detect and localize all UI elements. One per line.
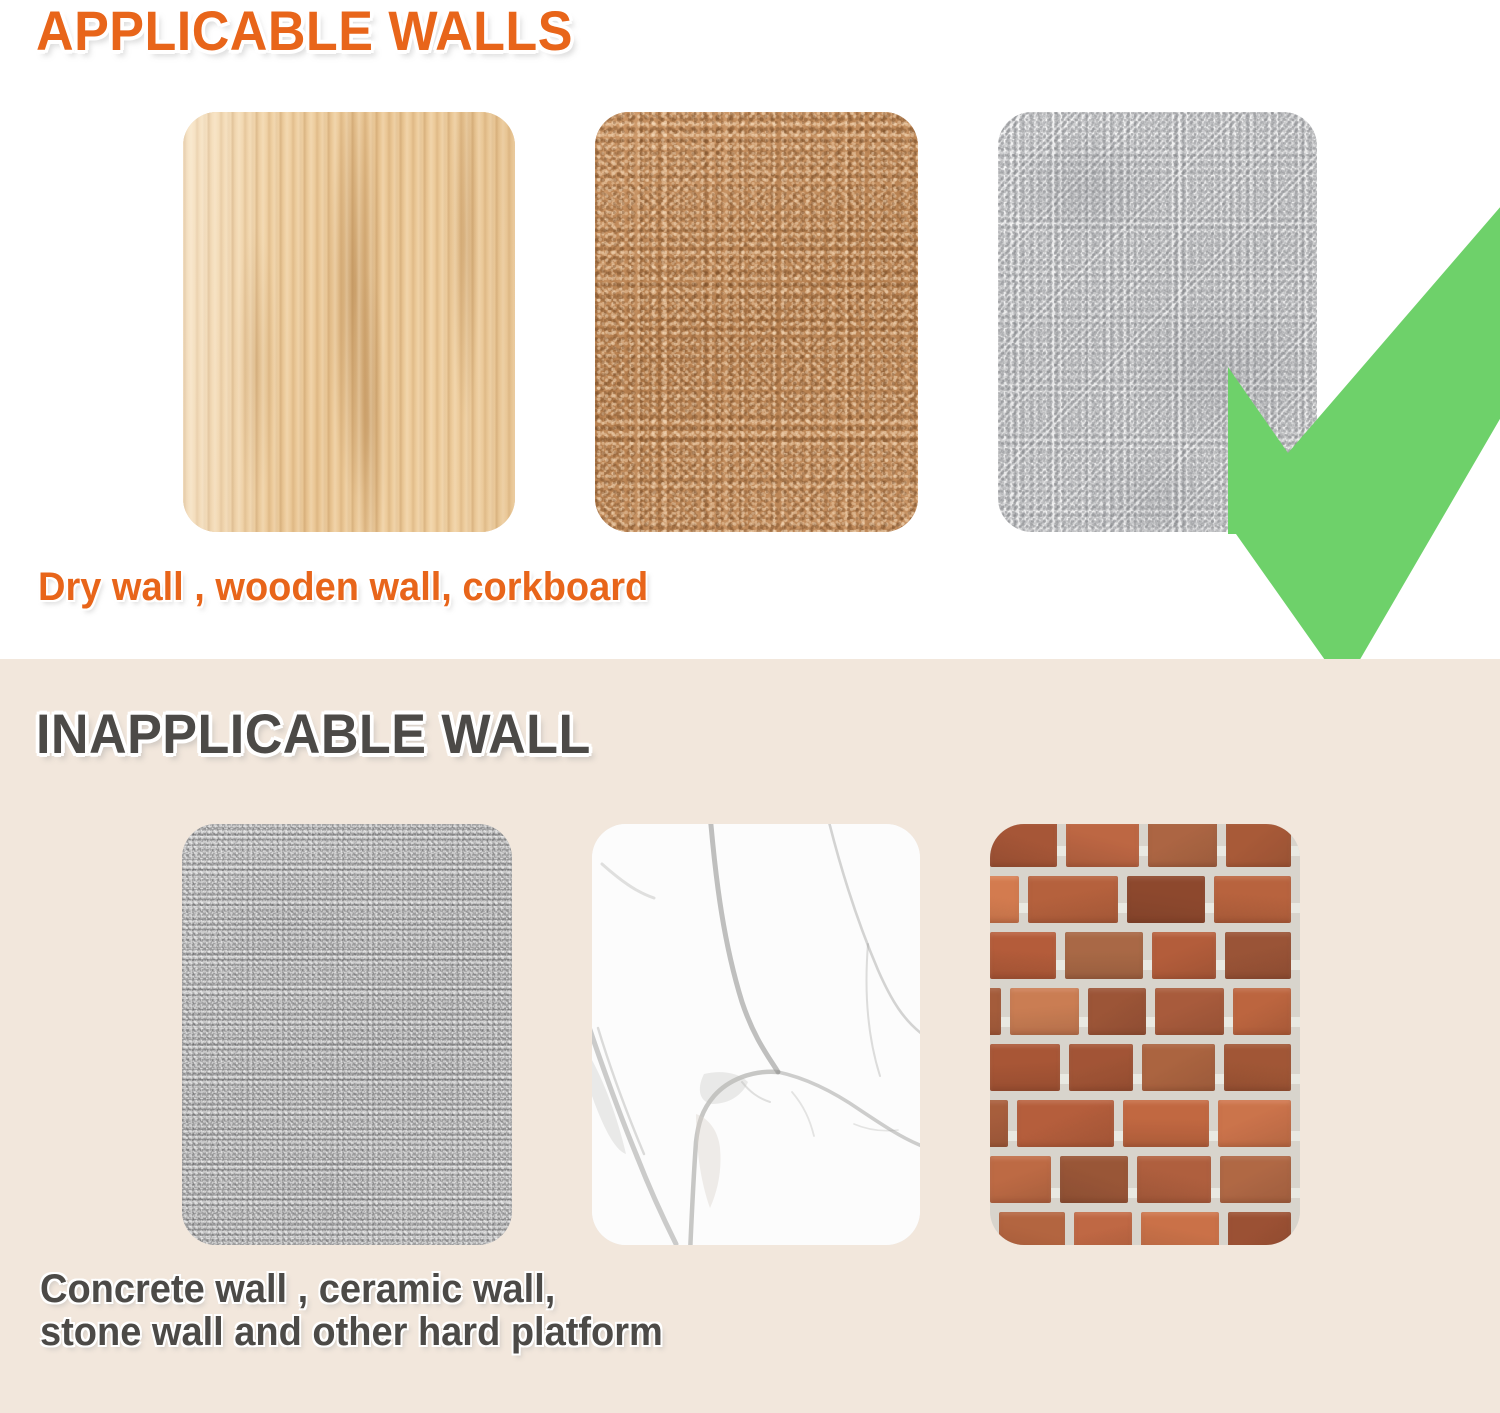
inapplicable-wall-caption: Concrete wall , ceramic wall, stone wall…	[40, 1268, 663, 1354]
brick-course	[990, 1044, 1300, 1091]
marble-texture	[592, 824, 920, 1245]
brick	[1123, 1100, 1209, 1147]
brick-wall-swatch	[990, 824, 1300, 1245]
brick	[1010, 988, 1079, 1035]
brick	[990, 1100, 1008, 1147]
brick	[990, 1156, 1051, 1203]
brick-course	[990, 988, 1300, 1035]
concrete-texture	[182, 824, 512, 1245]
inapplicable-wall-section: INAPPLICABLE WALL	[0, 659, 1500, 1413]
brick	[990, 988, 1001, 1035]
brick	[1220, 1156, 1291, 1203]
brick	[1074, 1212, 1132, 1245]
ceramic-wall-swatch	[592, 824, 920, 1245]
brick	[1225, 932, 1291, 979]
inapplicable-wall-title: INAPPLICABLE WALL	[36, 701, 591, 766]
brick	[1148, 824, 1218, 867]
wood-wall-swatch	[183, 112, 515, 532]
drywall-swatch	[998, 112, 1317, 532]
cork-texture	[595, 112, 918, 532]
brick-course	[990, 932, 1300, 979]
brick	[1060, 1156, 1128, 1203]
brick	[990, 824, 1057, 867]
applicable-walls-caption: Dry wall , wooden wall, corkboard	[38, 566, 648, 609]
brick	[1218, 1100, 1291, 1147]
brick	[1233, 988, 1291, 1035]
brick	[1028, 876, 1118, 923]
inapplicable-caption-line2: stone wall and other hard platform	[40, 1310, 663, 1354]
brick-course	[990, 876, 1300, 923]
brick	[1228, 1212, 1291, 1245]
brick	[1088, 988, 1146, 1035]
stucco-texture	[998, 112, 1317, 532]
applicable-walls-section: APPLICABLE WALLS Dry wall , wooden wall,…	[0, 0, 1500, 659]
brick	[1017, 1100, 1114, 1147]
brick	[1127, 876, 1204, 923]
brick	[1152, 932, 1215, 979]
brick	[1141, 1212, 1219, 1245]
brick	[1065, 932, 1143, 979]
wood-texture	[183, 112, 515, 532]
brick	[1137, 1156, 1212, 1203]
brick	[1224, 1044, 1291, 1091]
concrete-wall-swatch	[182, 824, 512, 1245]
brick	[1069, 1044, 1134, 1091]
brick	[1214, 876, 1291, 923]
corkboard-swatch	[595, 112, 918, 532]
brick-course	[990, 1100, 1300, 1147]
brick	[1155, 988, 1224, 1035]
brick	[990, 932, 1056, 979]
applicable-walls-infographic: APPLICABLE WALLS Dry wall , wooden wall,…	[0, 0, 1500, 1413]
brick-course	[990, 1156, 1300, 1203]
brick	[1066, 824, 1138, 867]
brick-course	[990, 1212, 1300, 1245]
brick	[990, 876, 1019, 923]
brick	[999, 1212, 1065, 1245]
brick	[990, 1044, 1060, 1091]
brick	[1226, 824, 1291, 867]
brick-texture	[990, 824, 1300, 1245]
brick-course	[990, 824, 1300, 867]
applicable-walls-title: APPLICABLE WALLS	[36, 0, 573, 63]
brick	[1142, 1044, 1214, 1091]
inapplicable-caption-line1: Concrete wall , ceramic wall,	[40, 1267, 555, 1311]
